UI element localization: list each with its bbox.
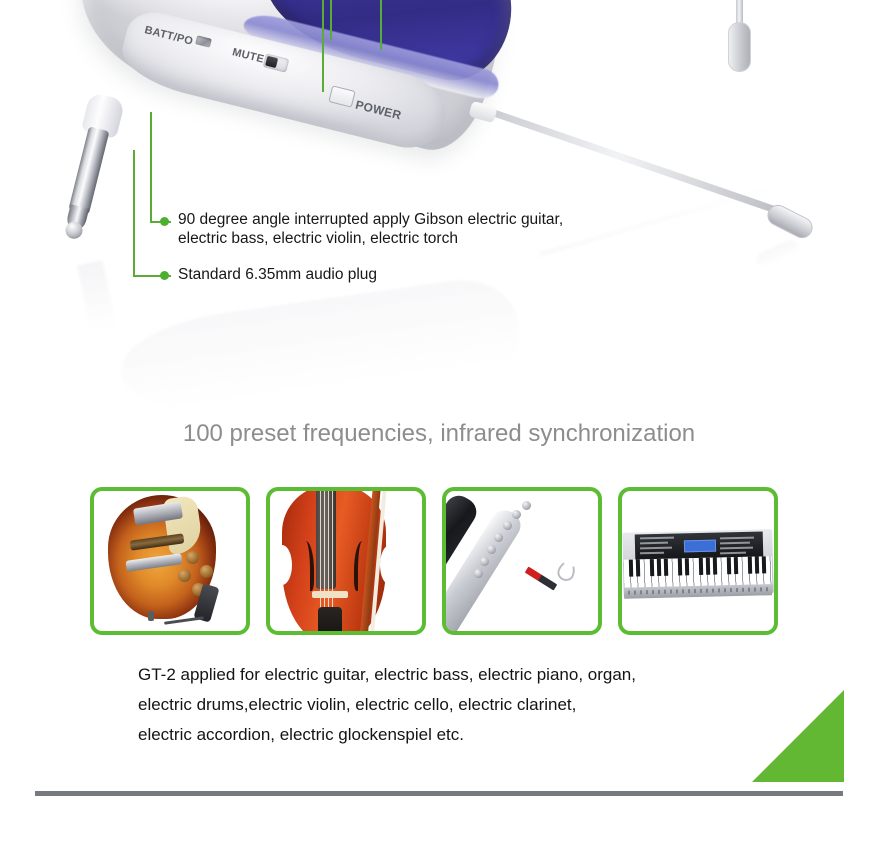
- callout-text-plug: Standard 6.35mm audio plug: [178, 265, 598, 284]
- transmitter-antenna-icon: [477, 104, 791, 218]
- callout-dot-plug: [160, 271, 169, 280]
- device-reflection: [115, 273, 524, 424]
- violin-tailpiece: [318, 607, 342, 635]
- wind-key: [480, 557, 489, 566]
- violin-bridge: [312, 591, 348, 598]
- wind-key: [522, 501, 531, 510]
- receiver-antenna-tip-icon: [728, 22, 751, 72]
- wind-key: [503, 521, 512, 530]
- callout-text-angle: 90 degree angle interrupted apply Gibson…: [178, 210, 698, 248]
- keyboard-front-rail: [624, 584, 772, 599]
- plug-shaft: [68, 126, 109, 215]
- instrument-thumbnail-row: [90, 487, 790, 637]
- wind-key: [512, 510, 521, 519]
- guitar-illustration: [94, 491, 246, 631]
- violin-illustration: [270, 491, 422, 631]
- callout-dot-angle: [160, 217, 169, 226]
- violin-waist-left: [272, 545, 292, 585]
- wind-key: [487, 545, 496, 554]
- leader-line-top-1: [330, 0, 332, 40]
- audio-plug: [48, 91, 129, 257]
- antenna-tip-reflection: [755, 238, 802, 271]
- transmitter-antenna-tip-icon: [764, 201, 816, 242]
- leader-line-angle-vertical: [150, 112, 152, 222]
- description-line-2: electric drums,electric violin, electric…: [138, 690, 798, 720]
- wind-key: [494, 533, 503, 542]
- wind-thumb-hook: [555, 559, 578, 584]
- product-hero-image: BATT/PO MUTE POWER 90 degree angle inter…: [0, 0, 878, 410]
- description-line-1: GT-2 applied for electric guitar, electr…: [138, 660, 798, 690]
- guitar-knob: [186, 551, 199, 564]
- green-triangle-decoration: [752, 690, 844, 782]
- thumbnail-keyboard: [618, 487, 778, 635]
- guitar-knob: [200, 565, 213, 578]
- keyboard-lcd-screen: [684, 540, 716, 553]
- leader-line-top-3: [322, 0, 324, 92]
- wind-key: [474, 569, 483, 578]
- wind-brand-logo: [525, 567, 558, 591]
- keyboard-black-keys: [624, 556, 772, 577]
- keyboard-illustration: [622, 491, 774, 631]
- thumbnail-violin: [266, 487, 426, 635]
- transmitter-body: [59, 0, 517, 174]
- thumbnail-guitar: [90, 487, 250, 635]
- description-line-3: electric accordion, electric glockenspie…: [138, 720, 798, 750]
- guitar-strap-pin: [148, 611, 154, 621]
- leader-line-plug-vertical: [133, 150, 135, 276]
- leader-line-top-2: [380, 0, 382, 50]
- wind-instrument-illustration: [446, 491, 598, 631]
- product-description: GT-2 applied for electric guitar, electr…: [138, 660, 798, 750]
- plug-reflection: [77, 260, 117, 334]
- preset-frequencies-heading: 100 preset frequencies, infrared synchro…: [0, 420, 878, 448]
- bottom-divider: [35, 791, 843, 796]
- thumbnail-wind-instrument: [442, 487, 602, 635]
- guitar-knob: [178, 569, 191, 582]
- violin-waist-right: [380, 545, 400, 585]
